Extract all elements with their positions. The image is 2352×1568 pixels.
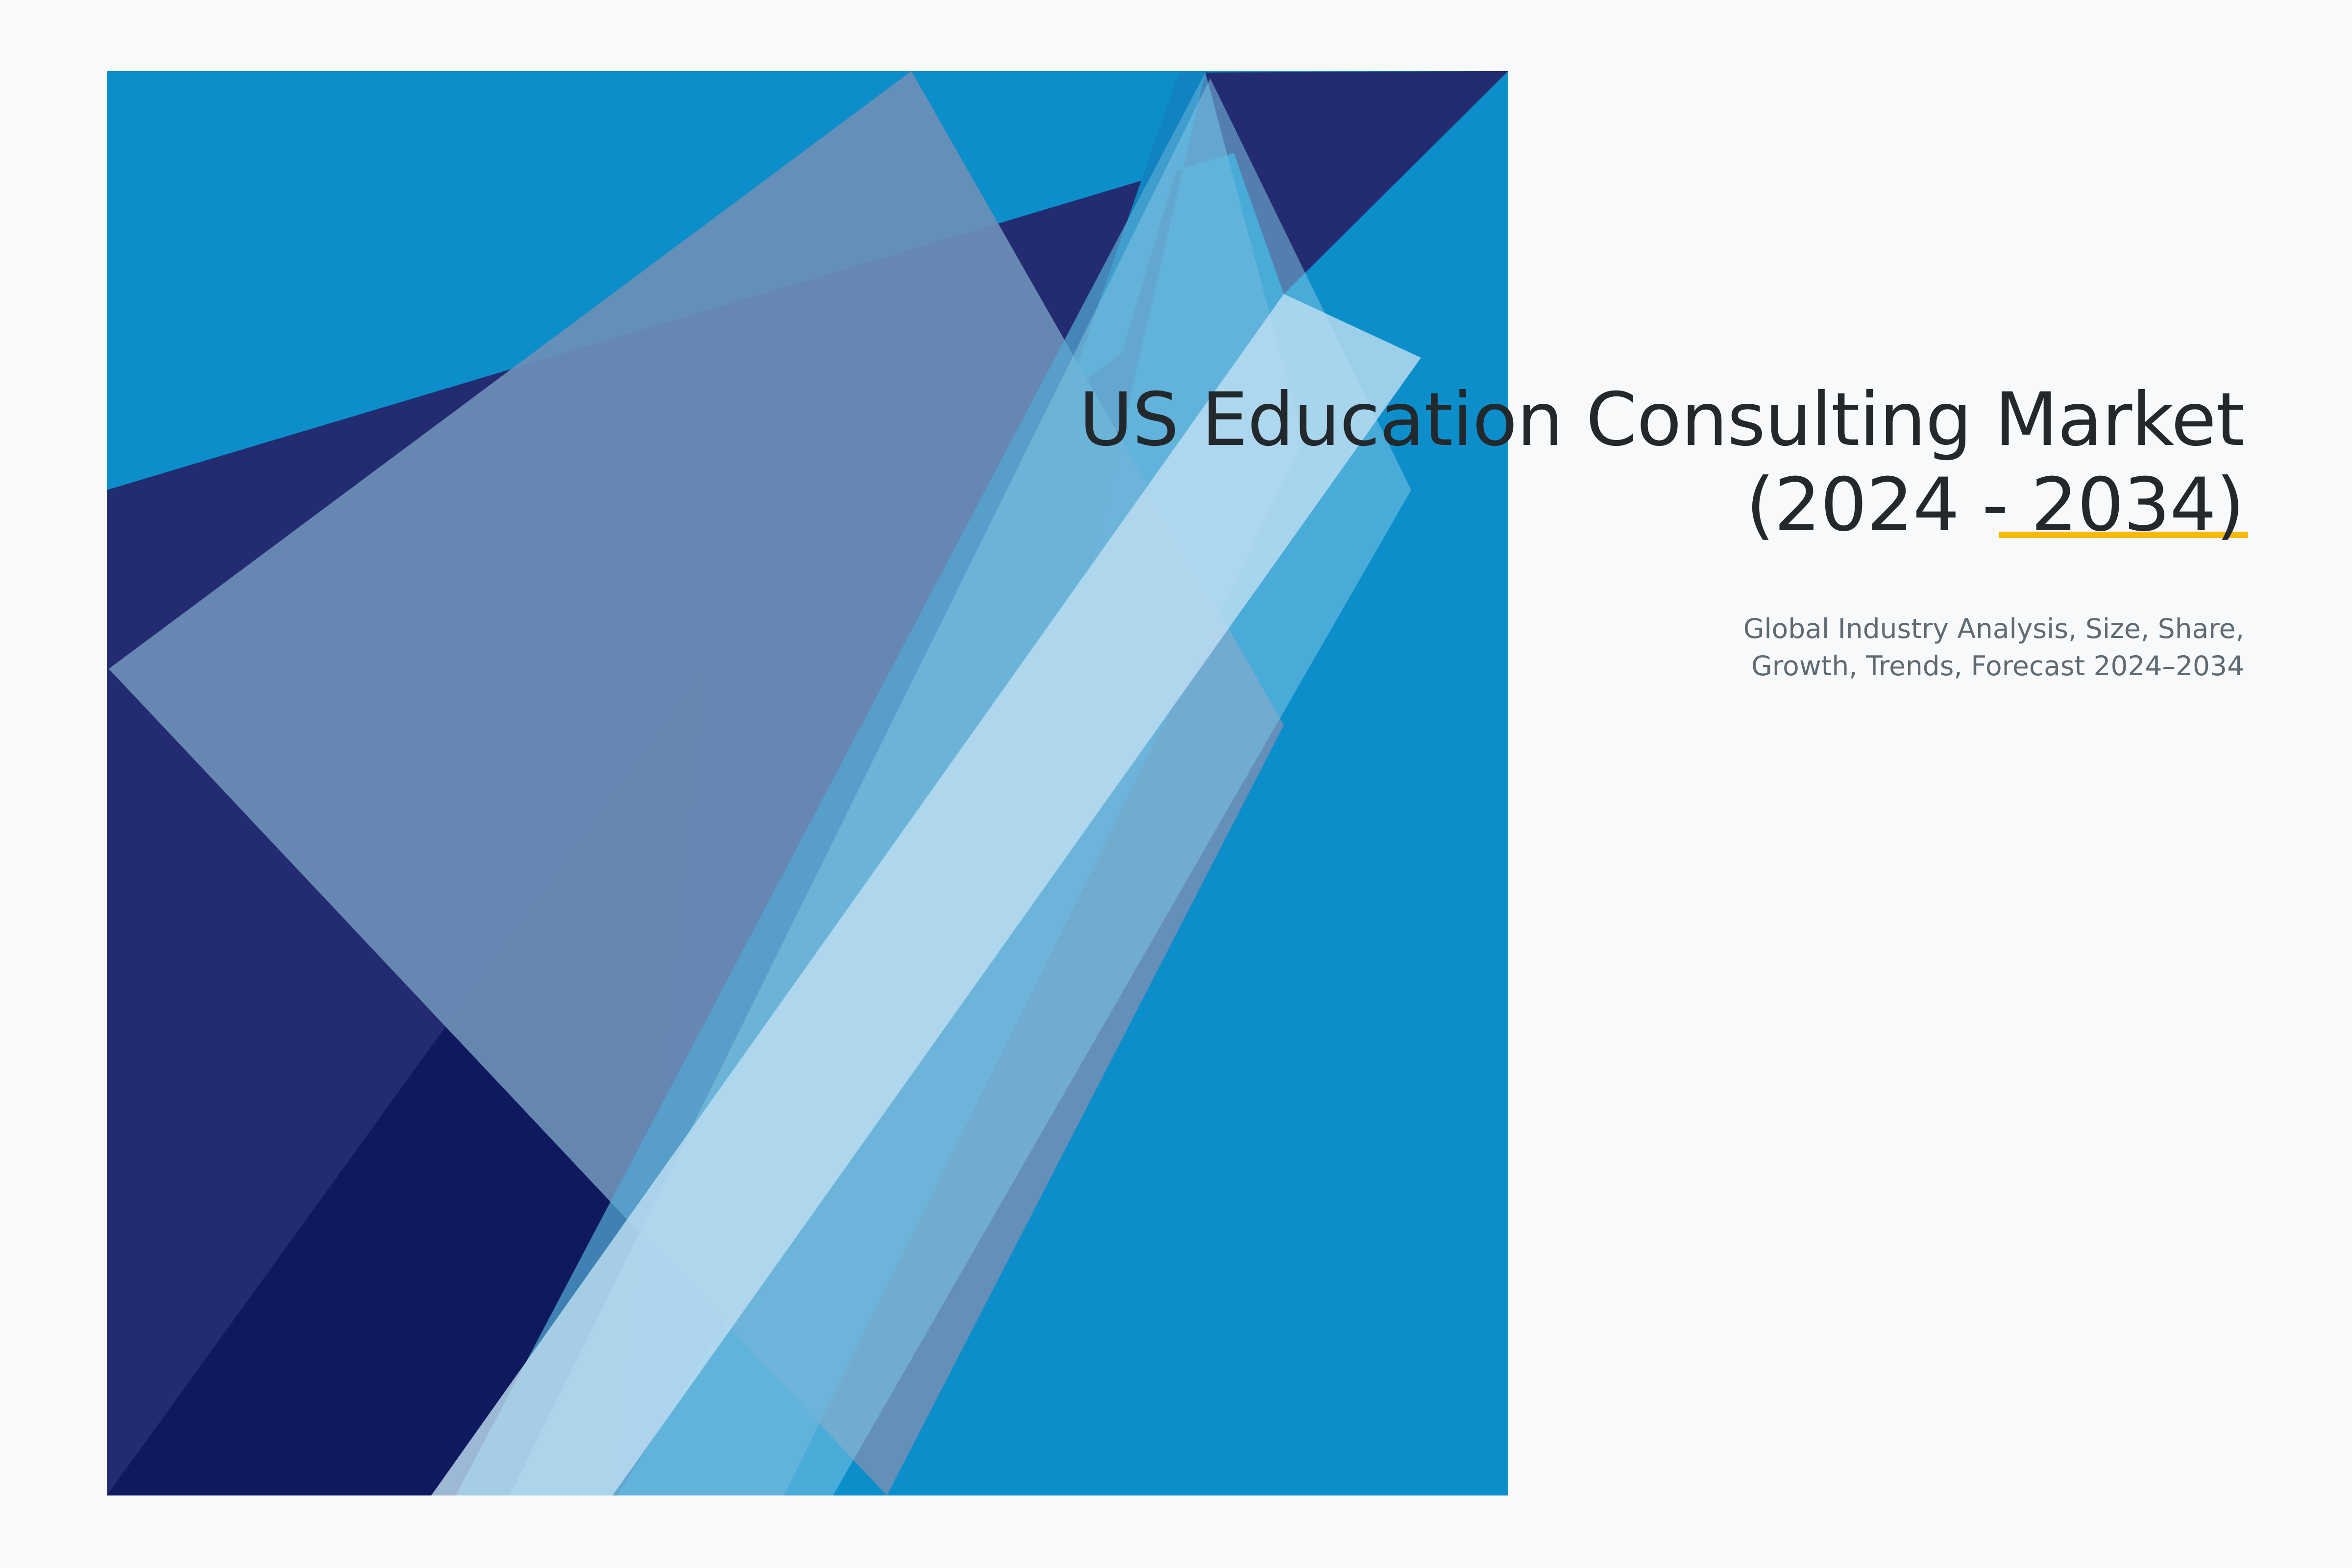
abstract-polygon-composition bbox=[0, 0, 2352, 1568]
cover-text-block: US Education Consulting Market (2024 - 2… bbox=[970, 377, 2244, 685]
cover-artwork bbox=[0, 0, 2352, 1568]
page-title: US Education Consulting Market (2024 - 2… bbox=[970, 377, 2244, 548]
page-subtitle: Global Industry Analysis, Size, Share, G… bbox=[970, 611, 2244, 685]
report-cover-page: US Education Consulting Market (2024 - 2… bbox=[0, 0, 2352, 1568]
